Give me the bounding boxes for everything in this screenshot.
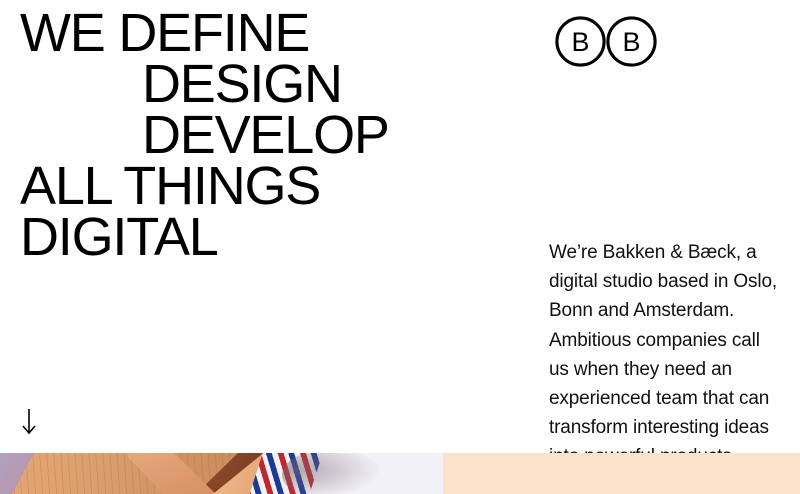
headline-line-1: WE DEFINE bbox=[20, 8, 540, 59]
headline-line-2: DESIGN bbox=[20, 59, 540, 110]
headline-line-4: ALL THINGS bbox=[20, 161, 540, 212]
circled-b-icon-1: B bbox=[555, 16, 606, 67]
media-strip bbox=[0, 453, 800, 494]
arrow-down-icon bbox=[17, 407, 41, 437]
headline-line-5: DIGITAL bbox=[20, 212, 540, 263]
logo-letter-1: B bbox=[571, 27, 589, 57]
peach-panel[interactable] bbox=[443, 453, 800, 494]
headline-line-3: DEVELOP bbox=[20, 110, 540, 161]
photo-airmail-envelope bbox=[272, 453, 443, 494]
desk-photo[interactable] bbox=[0, 453, 443, 494]
logo-letter-2: B bbox=[622, 27, 640, 57]
brand-logo[interactable]: B B bbox=[555, 16, 657, 67]
intro-paragraph: We’re Bakken & Bæck, a digital studio ba… bbox=[549, 238, 777, 472]
scroll-down-button[interactable] bbox=[17, 407, 41, 437]
hero-headline: WE DEFINE DESIGN DEVELOP ALL THINGS DIGI… bbox=[20, 8, 540, 263]
page-root: WE DEFINE DESIGN DEVELOP ALL THINGS DIGI… bbox=[0, 0, 800, 494]
circled-b-icon-2: B bbox=[606, 16, 657, 67]
